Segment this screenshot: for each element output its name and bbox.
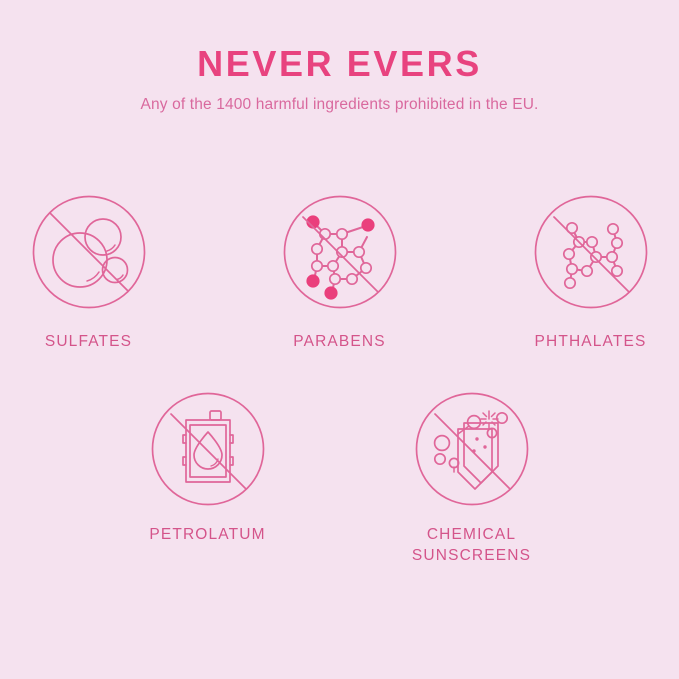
ingredient-grid: SULFATES bbox=[0, 190, 679, 566]
no-sulfates-bubbles-icon bbox=[27, 190, 151, 314]
poster-header: NEVER EVERS Any of the 1400 harmful ingr… bbox=[0, 44, 679, 115]
ingredient-label: SULFATES bbox=[45, 332, 132, 352]
ingredient-label: CHEMICAL SUNSCREENS bbox=[412, 525, 531, 566]
no-chemical-sunscreens-shield-icon bbox=[410, 387, 534, 511]
ingredient-row-bottom: PETROLATUM bbox=[0, 387, 679, 566]
ingredient-row-top: SULFATES bbox=[0, 190, 679, 352]
ingredient-label: PARABENS bbox=[293, 332, 385, 352]
ingredient-item-petrolatum: PETROLATUM bbox=[113, 387, 303, 566]
ingredient-item-sulfates: SULFATES bbox=[0, 190, 177, 352]
ingredient-item-chemical-sunscreens: CHEMICAL SUNSCREENS bbox=[377, 387, 567, 566]
page-title: NEVER EVERS bbox=[0, 44, 679, 84]
no-phthalates-molecule-icon bbox=[529, 190, 653, 314]
no-petrolatum-barrel-icon bbox=[146, 387, 270, 511]
never-evers-poster: NEVER EVERS Any of the 1400 harmful ingr… bbox=[0, 0, 679, 679]
ingredient-label: PETROLATUM bbox=[149, 525, 265, 545]
ingredient-label: PHTHALATES bbox=[535, 332, 647, 352]
ingredient-item-phthalates: PHTHALATES bbox=[502, 190, 679, 352]
ingredient-item-parabens: PARABENS bbox=[251, 190, 428, 352]
no-parabens-molecule-icon bbox=[278, 190, 402, 314]
page-subtitle: Any of the 1400 harmful ingredients proh… bbox=[0, 96, 679, 115]
